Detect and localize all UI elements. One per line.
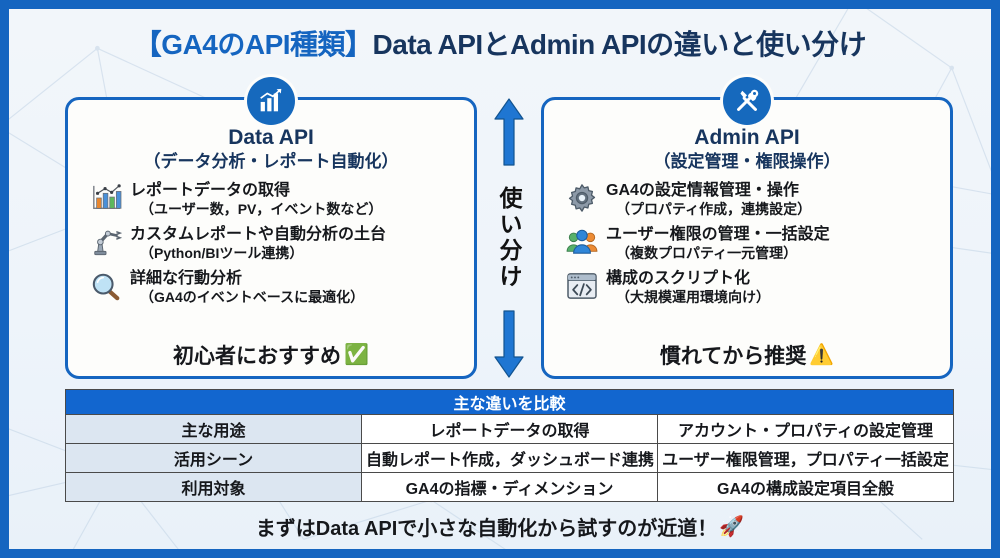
card-recommendation-text: 慣れてから推奨 xyxy=(660,340,806,370)
feature-text: レポートデータの取得 （ユーザー数，PV，イベント数など） xyxy=(130,181,382,218)
slide-canvas: 【GA4のAPI種類】Data APIとAdmin APIの違いと使い分け Da… xyxy=(0,0,1000,558)
feature-list: GA4の設定情報管理・操作 （プロパティ作成，連携設定） xyxy=(544,181,950,307)
card-title: Admin API xyxy=(544,126,950,150)
row-label: 活用シーン xyxy=(66,444,362,473)
usage-split-label: 使い分け xyxy=(492,186,526,290)
row-label: 利用対象 xyxy=(66,473,362,502)
page-title-rest: Data APIとAdmin APIの違いと使い分け xyxy=(373,29,867,60)
table-row: 活用シーン 自動レポート作成，ダッシュボード連携 ユーザー権限管理，プロパティ一… xyxy=(66,444,954,473)
card-recommendation: 初心者におすすめ ✅ xyxy=(68,340,474,370)
feature-title: 詳細な行動分析 xyxy=(130,270,364,288)
check-mark-button-icon: ✅ xyxy=(344,345,369,365)
table-row: 主な用途 レポートデータの取得 アカウント・プロパティの設定管理 xyxy=(66,415,954,444)
feature-note: （複数プロパティ一元管理） xyxy=(606,245,830,262)
gear-icon xyxy=(564,181,600,215)
feature-note: （プロパティ作成，連携設定） xyxy=(606,201,811,218)
cell-data-api: 自動レポート作成，ダッシュボード連携 xyxy=(362,444,658,473)
list-item[interactable]: レポートデータの取得 （ユーザー数，PV，イベント数など） xyxy=(88,181,466,218)
cell-admin-api: GA4の構成設定項目全般 xyxy=(658,473,954,502)
table-header-title: 主な違いを比較 xyxy=(66,390,954,415)
card-recommendation-text: 初心者におすすめ xyxy=(173,340,341,370)
comparison-table: 主な違いを比較 主な用途 レポートデータの取得 アカウント・プロパティの設定管理… xyxy=(65,389,954,502)
feature-note: （GA4のイベントベースに最適化） xyxy=(130,289,364,306)
card-data-api[interactable]: Data API （データ分析・レポート自動化） xyxy=(65,97,477,379)
arrow-up-icon xyxy=(492,97,526,167)
code-window-icon xyxy=(564,269,600,303)
list-item[interactable]: カスタムレポートや自動分析の土台 （Python/BIツール連携） xyxy=(88,225,466,262)
list-item[interactable]: 構成のスクリプト化 （大規模運用環境向け） xyxy=(564,269,942,306)
list-item[interactable]: 詳細な行動分析 （GA4のイベントベースに最適化） xyxy=(88,269,466,306)
card-admin-api[interactable]: Admin API （設定管理・権限操作） GA4の設定情報管理・操作 （プロパ… xyxy=(541,97,953,379)
feature-text: 詳細な行動分析 （GA4のイベントベースに最適化） xyxy=(130,269,364,306)
wrench-gear-icon xyxy=(723,77,771,125)
bar-chart-growth-icon xyxy=(247,77,295,125)
usage-split-arrow: 使い分け xyxy=(477,97,541,379)
footer-text: まずはData APIで小さな自動化から試すのが近道！ xyxy=(256,512,718,541)
user-group-icon xyxy=(564,225,600,259)
feature-note: （大規模運用環境向け） xyxy=(606,289,770,306)
cell-admin-api: ユーザー権限管理，プロパティ一括設定 xyxy=(658,444,954,473)
page-title-bracket: 【GA4のAPI種類】 xyxy=(134,29,373,60)
feature-title: レポートデータの取得 xyxy=(130,182,382,200)
cell-admin-api: アカウント・プロパティの設定管理 xyxy=(658,415,954,444)
feature-text: GA4の設定情報管理・操作 （プロパティ作成，連携設定） xyxy=(606,181,811,218)
feature-title: 構成のスクリプト化 xyxy=(606,270,770,288)
feature-title: カスタムレポートや自動分析の土台 xyxy=(130,226,386,244)
feature-text: 構成のスクリプト化 （大規模運用環境向け） xyxy=(606,269,770,306)
feature-list: レポートデータの取得 （ユーザー数，PV，イベント数など） xyxy=(68,181,474,307)
arrow-down-icon xyxy=(492,309,526,379)
table-row: 利用対象 GA4の指標・ディメンション GA4の構成設定項目全般 xyxy=(66,473,954,502)
card-recommendation: 慣れてから推奨 ⚠️ xyxy=(544,340,950,370)
rocket-icon: 🚀 xyxy=(719,517,744,537)
list-item[interactable]: ユーザー権限の管理・一括設定 （複数プロパティ一元管理） xyxy=(564,225,942,262)
card-title: Data API xyxy=(68,126,474,150)
card-subtitle: （データ分析・レポート自動化） xyxy=(68,152,474,172)
table-header-row: 主な違いを比較 xyxy=(66,390,954,415)
feature-title: GA4の設定情報管理・操作 xyxy=(606,182,811,200)
feature-note: （ユーザー数，PV，イベント数など） xyxy=(130,201,382,218)
card-subtitle: （設定管理・権限操作） xyxy=(544,152,950,172)
row-label: 主な用途 xyxy=(66,415,362,444)
feature-title: ユーザー権限の管理・一括設定 xyxy=(606,226,830,244)
cell-data-api: GA4の指標・ディメンション xyxy=(362,473,658,502)
page-title: 【GA4のAPI種類】Data APIとAdmin APIの違いと使い分け xyxy=(9,23,991,63)
warning-icon: ⚠️ xyxy=(809,345,834,365)
feature-note: （Python/BIツール連携） xyxy=(130,245,386,262)
cell-data-api: レポートデータの取得 xyxy=(362,415,658,444)
magnifier-icon xyxy=(88,269,124,303)
bar-line-chart-icon xyxy=(88,181,124,215)
list-item[interactable]: GA4の設定情報管理・操作 （プロパティ作成，連携設定） xyxy=(564,181,942,218)
feature-text: カスタムレポートや自動分析の土台 （Python/BIツール連携） xyxy=(130,225,386,262)
footer-conclusion: まずはData APIで小さな自動化から試すのが近道！ 🚀 xyxy=(9,512,991,541)
robot-arm-icon xyxy=(88,225,124,259)
feature-text: ユーザー権限の管理・一括設定 （複数プロパティ一元管理） xyxy=(606,225,830,262)
